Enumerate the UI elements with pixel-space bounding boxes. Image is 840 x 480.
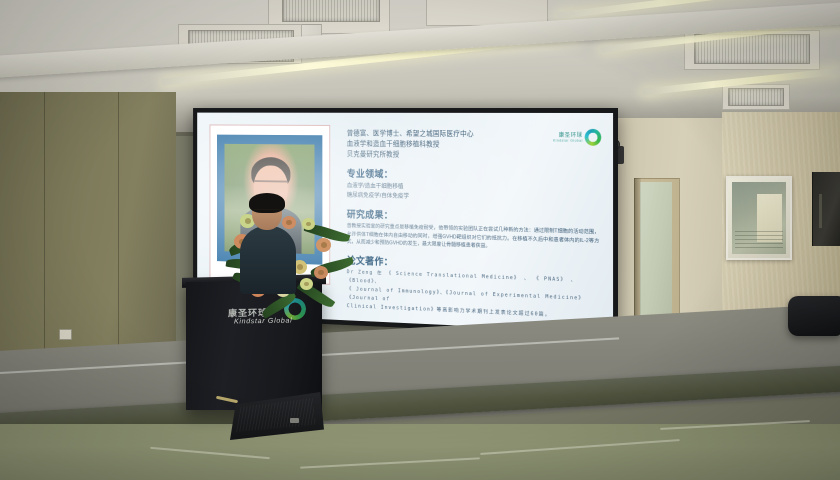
slide-speaker-line3: 贝克曼研究所教授	[347, 149, 599, 162]
speaker-torso	[240, 226, 296, 294]
wall-notice-board	[726, 176, 792, 260]
stage-floor-monitor-right	[788, 296, 840, 336]
wall-dark-panel	[812, 172, 840, 246]
hvac-vent-1	[282, 0, 380, 22]
speaker-person	[238, 196, 298, 292]
slide-text-column: 曾德富、医学博士、希望之城国际医疗中心 血液学和造血干细胞移植科教授 贝克曼研究…	[347, 128, 599, 324]
notice-text-lines	[735, 231, 783, 250]
bloom	[300, 278, 313, 290]
conference-hall-photo: 康圣环球 Kindstar Global 曾德富、医学博士、希望之城国际医疗中心…	[0, 0, 840, 480]
power-outlet	[59, 329, 72, 340]
speaker-glasses-icon	[254, 209, 280, 215]
section-heading: 专业领域：	[347, 166, 599, 184]
slide-speaker-block: 曾德富、医学博士、希望之城国际医疗中心 血液学和造血干细胞移植科教授 贝克曼研究…	[347, 128, 599, 162]
bloom	[314, 266, 328, 279]
bloom	[302, 218, 315, 230]
slide-section-specialty: 专业领域： 血液学/造血干细胞移植 糖尿病免疫学/自体免疫学	[347, 166, 599, 206]
hvac-vent-4	[728, 88, 784, 106]
slide-section-publications: 论文著作： Dr Zeng 在 《 Science Translational …	[347, 252, 599, 321]
floor-carpet	[0, 424, 840, 480]
wall-seam-1	[44, 92, 45, 392]
bloom	[316, 238, 331, 252]
slide-section-research: 研究成果： 曾教授实验室的研究重点是移植免疫耐受，他带领的实验团队正在尝试几种新…	[347, 206, 599, 254]
monitor-brand-badge	[290, 418, 299, 423]
portrait-glasses-icon	[255, 180, 287, 191]
section-paragraph: 曾教授实验室的研究重点是移植免疫耐受，他带领的实验团队正在尝试几种新的方法：通过…	[347, 222, 599, 254]
notice-glass	[732, 182, 786, 254]
